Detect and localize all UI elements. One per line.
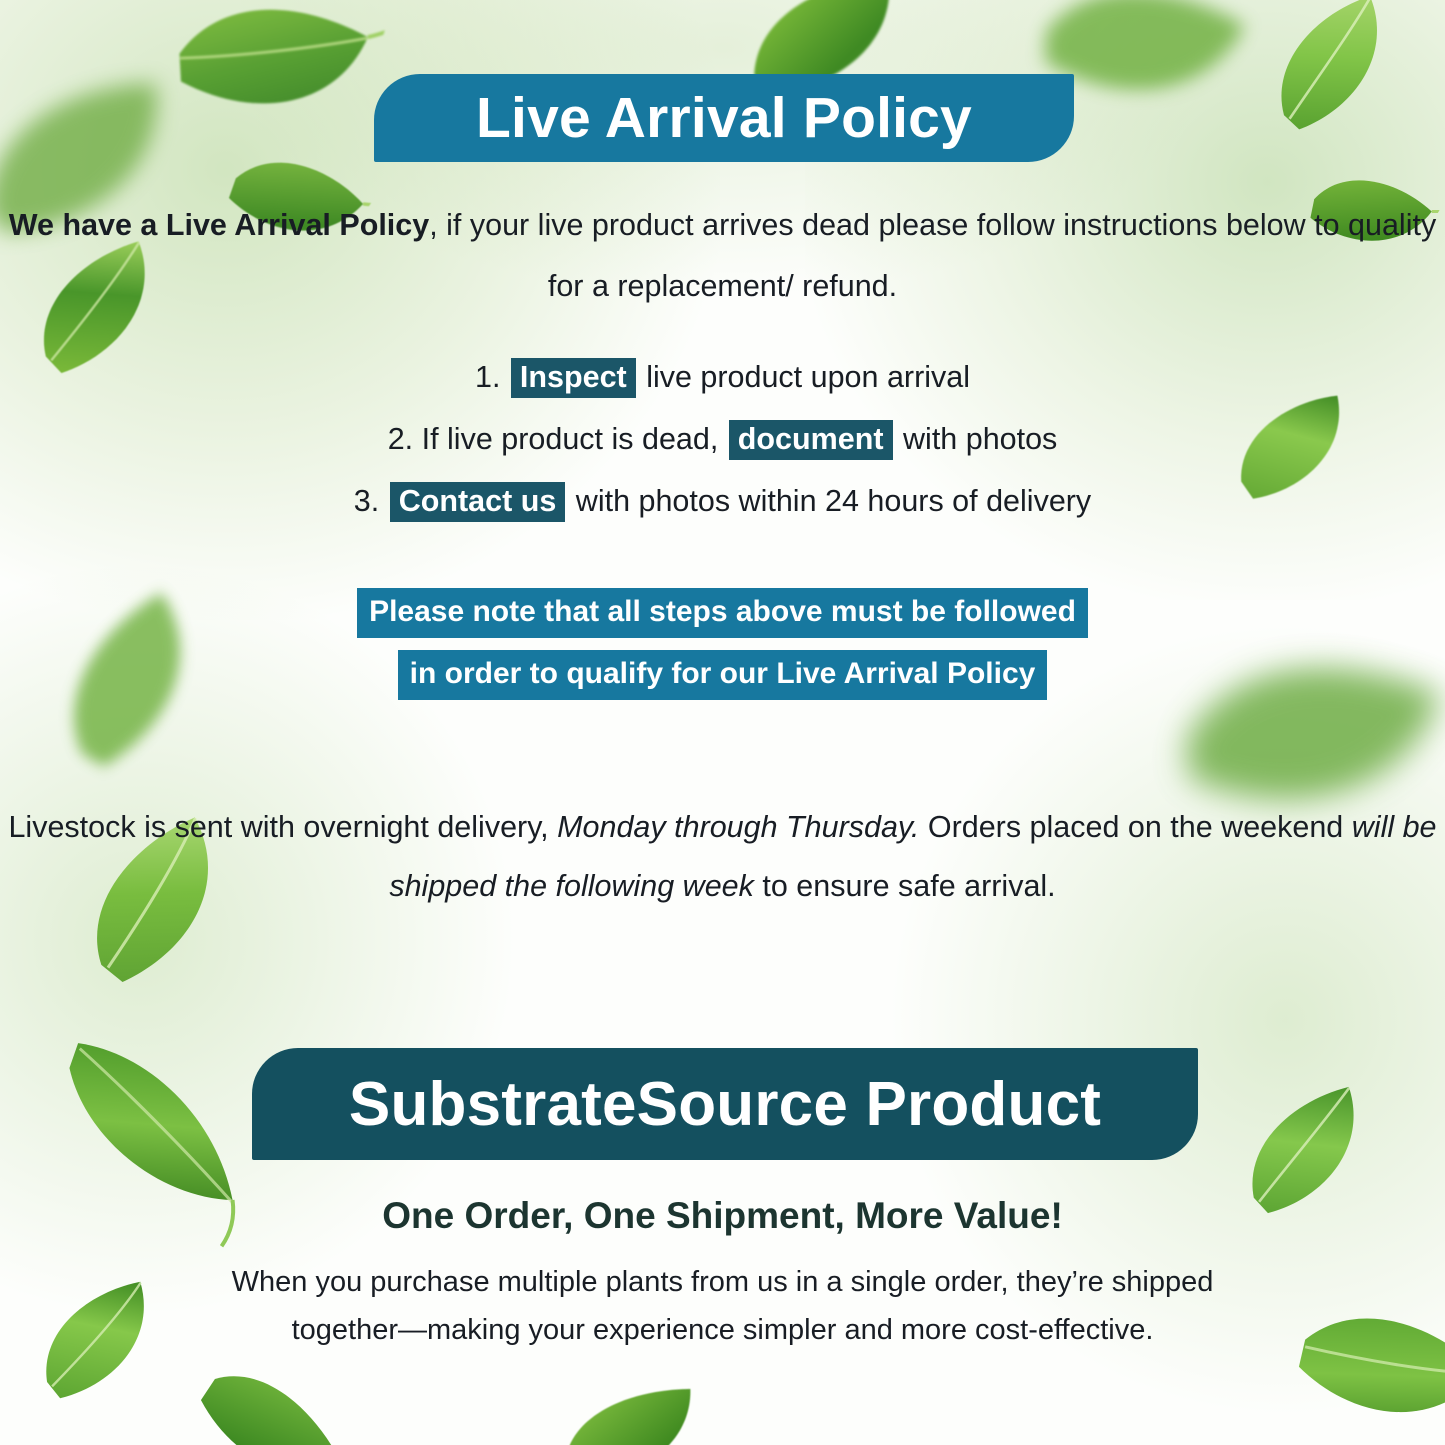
live-arrival-policy-banner: Live Arrival Policy (374, 74, 1074, 162)
step-highlight-contact-us[interactable]: Contact us (390, 482, 566, 522)
value-heading: One Order, One Shipment, More Value! (0, 1192, 1445, 1240)
shipping-line2-plain: Orders placed on the weekend (928, 810, 1343, 844)
step-text: with photos (903, 422, 1057, 456)
note-line-1-text: Please note that all steps above must be… (357, 588, 1088, 638)
live-arrival-policy-infographic: Live Arrival Policy We have a Live Arriv… (0, 0, 1445, 1445)
value-body-line-2: together—making your experience simpler … (292, 1314, 1154, 1346)
policy-step-1: 1. Inspect live product upon arrival (0, 357, 1445, 398)
policy-step-2: 2. If live product is dead, document wit… (0, 419, 1445, 460)
note-line-2-text: in order to qualify for our Live Arrival… (398, 650, 1048, 700)
substratesource-product-banner: SubstrateSource Product (252, 1048, 1198, 1160)
shipping-line1-plain: Livestock is sent with overnight deliver… (8, 810, 548, 844)
intro-paragraph: We have a Live Arrival Policy, if your l… (0, 195, 1445, 317)
step-highlight-inspect: Inspect (511, 358, 636, 398)
step-text: live product upon arrival (646, 360, 970, 394)
shipping-schedule-paragraph: Livestock is sent with overnight deliver… (0, 798, 1445, 916)
shipping-line3-plain: to ensure safe arrival. (762, 869, 1055, 903)
intro-rest-text: , if your live product arrives dead plea… (429, 208, 1436, 303)
value-body-paragraph: When you purchase multiple plants from u… (0, 1258, 1445, 1354)
policy-note-line-1: Please note that all steps above must be… (0, 588, 1445, 638)
value-body-line-1: When you purchase multiple plants from u… (232, 1266, 1214, 1298)
infographic-content: Live Arrival Policy We have a Live Arriv… (0, 0, 1445, 1445)
step-number: 3. (354, 484, 379, 518)
step-number: 1. (475, 360, 500, 394)
product-banner-title-text: SubstrateSource Product (349, 1069, 1101, 1140)
banner-title-text: Live Arrival Policy (476, 85, 972, 151)
shipping-line1-italic: Monday through Thursday. (557, 810, 919, 844)
intro-bold-text: We have a Live Arrival Policy (9, 208, 429, 242)
value-heading-text: One Order, One Shipment, More Value! (382, 1195, 1063, 1236)
step-number: 2. (388, 422, 413, 456)
step-text: with photos within 24 hours of delivery (576, 484, 1091, 518)
policy-step-3: 3. Contact us with photos within 24 hour… (0, 481, 1445, 522)
step-highlight-document: document (729, 420, 893, 460)
step-pre-text: If live product is dead, (422, 422, 719, 456)
policy-note-line-2: in order to qualify for our Live Arrival… (0, 650, 1445, 700)
